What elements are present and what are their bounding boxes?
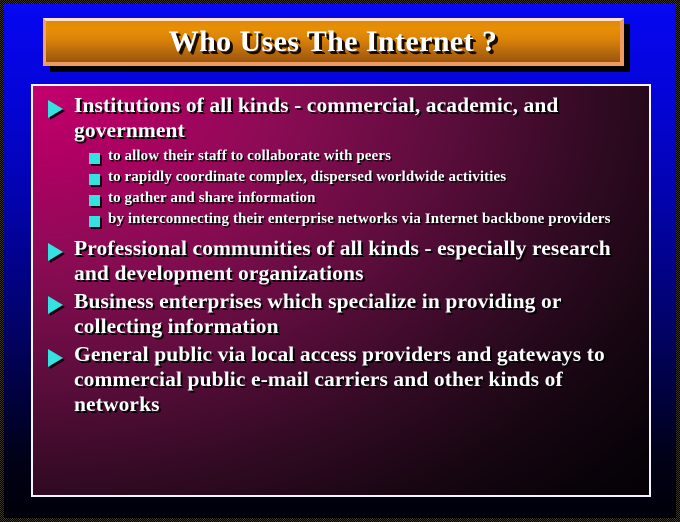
slide-content-panel: Institutions of all kinds - commercial, …: [31, 84, 651, 497]
list-item: Institutions of all kinds - commercial, …: [41, 92, 641, 143]
sub-bullet-text: to rapidly coordinate complex, dispersed…: [108, 168, 506, 187]
triangle-bullet-icon: [48, 349, 63, 367]
list-item: Professional communities of all kinds - …: [41, 235, 641, 286]
square-bullet-icon: [89, 216, 100, 227]
bullet-text: Business enterprises which specialize in…: [74, 289, 641, 339]
sub-bullet-text: to allow their staff to collaborate with…: [108, 147, 391, 166]
square-bullet-icon: [89, 174, 100, 185]
bullet-text: Professional communities of all kinds - …: [74, 236, 641, 286]
list-item: to rapidly coordinate complex, dispersed…: [41, 168, 641, 187]
list-item: to gather and share information: [41, 189, 641, 208]
list-item: to allow their staff to collaborate with…: [41, 147, 641, 166]
sub-bullet-text: to gather and share information: [108, 189, 316, 208]
triangle-bullet-icon: [48, 100, 63, 118]
page-title: Who Uses The Internet ?: [169, 25, 498, 59]
sub-bullet-text: by interconnecting their enterprise netw…: [108, 210, 611, 229]
bullet-text: Institutions of all kinds - commercial, …: [74, 93, 641, 143]
list-item: General public via local access provider…: [41, 341, 641, 417]
presentation-slide: Who Uses The Internet ? Institutions of …: [0, 0, 680, 522]
list-item: Business enterprises which specialize in…: [41, 288, 641, 339]
list-item: by interconnecting their enterprise netw…: [41, 210, 641, 229]
triangle-bullet-icon: [48, 243, 63, 261]
slide-title-box: Who Uses The Internet ?: [43, 18, 624, 66]
square-bullet-icon: [89, 153, 100, 164]
triangle-bullet-icon: [48, 296, 63, 314]
square-bullet-icon: [89, 195, 100, 206]
bullet-text: General public via local access provider…: [74, 342, 641, 417]
sub-bullet-list: to allow their staff to collaborate with…: [41, 147, 641, 229]
